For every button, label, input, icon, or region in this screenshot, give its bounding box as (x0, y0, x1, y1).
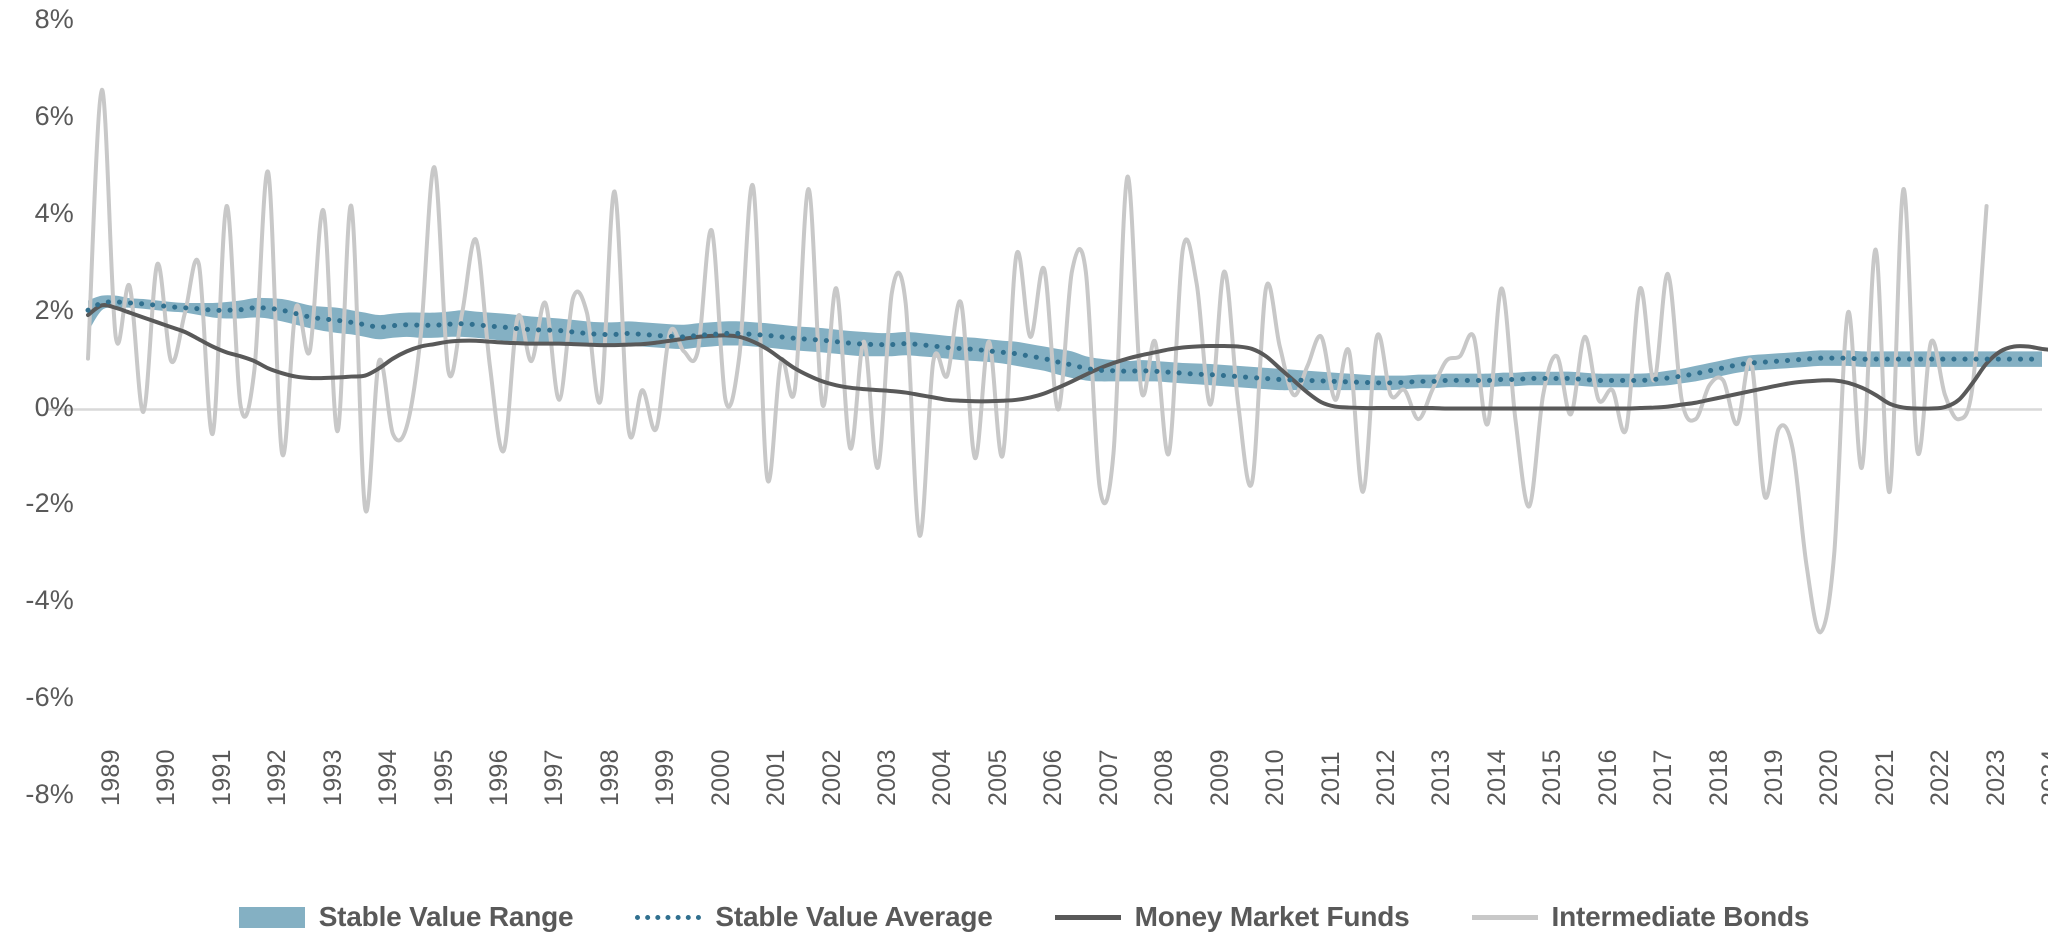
x-axis-tick-label: 2004 (928, 749, 957, 806)
x-axis-tick-label: 2010 (1261, 749, 1290, 806)
x-axis-tick-label: 1992 (263, 749, 292, 806)
y-axis-tick-label: -2% (0, 488, 74, 519)
x-axis-tick-label: 2007 (1095, 749, 1124, 806)
x-axis-tick-label: 1990 (152, 749, 181, 806)
legend-swatch-dotted-line (635, 915, 701, 920)
x-axis-tick-label: 1994 (374, 749, 403, 806)
legend-swatch-band (239, 907, 305, 928)
legend-label: Intermediate Bonds (1552, 901, 1810, 933)
legend-swatch-solid-line (1055, 915, 1121, 920)
legend-item[interactable]: Stable Value Range (239, 901, 574, 933)
x-axis-tick-label: 1999 (651, 749, 680, 806)
x-axis-tick-label: 2016 (1594, 749, 1623, 806)
x-axis-tick-label: 1998 (596, 749, 625, 806)
x-axis-tick-label: 2005 (984, 749, 1013, 806)
x-axis-tick-label: 2014 (1483, 749, 1512, 806)
x-axis-tick-label: 2000 (707, 749, 736, 806)
y-axis-tick-label: -6% (0, 682, 74, 713)
x-axis-tick-label: 2019 (1760, 749, 1789, 806)
x-axis-tick-label: 1995 (430, 749, 459, 806)
legend-item[interactable]: Stable Value Average (635, 901, 992, 933)
y-axis-tick-label: 4% (0, 198, 74, 229)
y-axis-tick-label: 8% (0, 4, 74, 35)
legend-swatch-solid-line (1472, 915, 1538, 920)
y-axis-tick-label: -8% (0, 779, 74, 810)
x-axis-tick-label: 2013 (1427, 749, 1456, 806)
chart-container: 8%6%4%2%0%-2%-4%-6%-8% 19891990199119921… (0, 0, 2048, 946)
x-axis-tick-label: 2015 (1538, 749, 1567, 806)
x-axis-tick-label: 1996 (485, 749, 514, 806)
legend-label: Stable Value Range (319, 901, 574, 933)
x-axis-tick-label: 2021 (1871, 749, 1900, 806)
legend-item[interactable]: Money Market Funds (1055, 901, 1410, 933)
x-axis-tick-label: 1991 (208, 749, 237, 806)
x-axis-tick-label: 1993 (319, 749, 348, 806)
x-axis-tick-label: 2023 (1982, 749, 2011, 806)
x-axis-tick-label: 2012 (1372, 749, 1401, 806)
x-axis-tick-label: 2011 (1317, 751, 1346, 806)
legend-label: Stable Value Average (715, 901, 992, 933)
x-axis-tick-label: 2018 (1705, 749, 1734, 806)
x-axis-tick-label: 2006 (1039, 749, 1068, 806)
x-axis-tick-label: 2024 (2037, 749, 2048, 806)
legend-item[interactable]: Intermediate Bonds (1472, 901, 1810, 933)
x-axis-tick-label: 2003 (873, 749, 902, 806)
x-axis-tick-label: 1989 (97, 749, 126, 806)
y-axis-tick-label: 0% (0, 392, 74, 423)
x-axis-tick-label: 2002 (818, 749, 847, 806)
x-axis-tick-label: 2020 (1815, 749, 1844, 806)
chart-plot-area (0, 0, 2048, 946)
x-axis-tick-label: 2017 (1649, 749, 1678, 806)
x-axis-tick-label: 1997 (540, 749, 569, 806)
y-axis-tick-label: 6% (0, 101, 74, 132)
legend-label: Money Market Funds (1135, 901, 1410, 933)
x-axis-tick-label: 2008 (1150, 749, 1179, 806)
x-axis-tick-label: 2001 (762, 749, 791, 806)
x-axis-tick-label: 2022 (1926, 749, 1955, 806)
y-axis-tick-label: 2% (0, 295, 74, 326)
x-axis-tick-label: 2009 (1206, 749, 1235, 806)
chart-legend: Stable Value RangeStable Value AverageMo… (0, 888, 2048, 946)
y-axis-tick-label: -4% (0, 585, 74, 616)
